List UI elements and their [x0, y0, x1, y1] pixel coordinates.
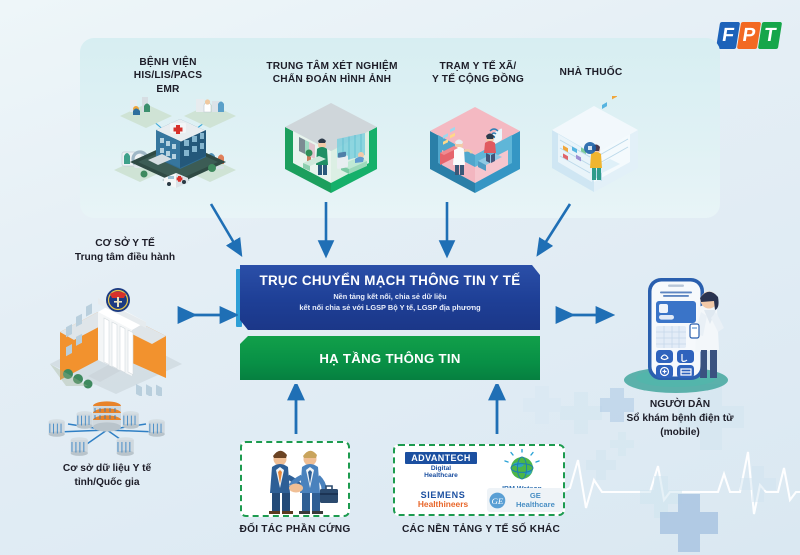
database-label: Cơ sở dữ liệu Y tế tỉnh/Quốc gia [27, 462, 187, 490]
logo-advantech-wordmark: ADVANTECH [405, 452, 477, 464]
ibm-watson-globe-icon [502, 449, 542, 483]
database-label-line2: tỉnh/Quốc gia [27, 476, 187, 490]
health-database-illustration [44, 398, 170, 462]
facility-hub-arrow [176, 303, 238, 327]
logo-advantech-sub2: Healthcare [405, 472, 477, 479]
hub-subtitle: Nền tảng kết nối, chia sẻ dữ liệu kết nố… [240, 292, 540, 313]
logo-healthineers-wordmark: Healthineers [403, 499, 483, 509]
other-platforms-box: ADVANTECH Digital Healthcare [393, 444, 565, 516]
source-label-pharmacy: NHÀ THUỐC [536, 66, 646, 79]
infrastructure-label: HẠ TẦNG THÔNG TIN [319, 351, 460, 366]
health-facility-building-illustration [42, 278, 192, 396]
database-label-line1: Cơ sở dữ liệu Y tế [27, 462, 187, 476]
platforms-to-hub-arrow [485, 384, 509, 438]
ecg-line-decoration [540, 430, 800, 540]
citizen-label: NGƯỜI DÂN Sổ khám bệnh điện tử (mobile) [596, 398, 764, 439]
citizen-mobile-app-illustration [612, 268, 740, 394]
hub-title: TRỤC CHUYỂN MẠCH THÔNG TIN Y TẾ [240, 273, 540, 288]
hub-subtitle-line1: Nền tảng kết nối, chia sẻ dữ liệu [333, 292, 446, 301]
fpt-logo-letter-t: T [758, 22, 782, 49]
facility-label-line1: CƠ SỞ Y TẾ [40, 237, 210, 251]
logo-ge-healthcare-wordmark: GE Healthcare [510, 491, 561, 509]
svg-text:GE: GE [491, 495, 503, 505]
pharmacy-illustration [546, 96, 642, 196]
information-infrastructure-bar: HẠ TẦNG THÔNG TIN [240, 336, 540, 380]
hub-subtitle-line2: kết nối chia sẻ với LGSP Bộ Y tế, LGSP đ… [299, 303, 480, 312]
facility-label-line2: Trung tâm điều hành [40, 251, 210, 265]
hub-citizen-arrow [554, 303, 616, 327]
diagram-canvas: F P T BỆNH VIỆN HIS/LIS/PACS EMR TRUNG T… [0, 0, 800, 555]
fpt-logo: F P T [718, 22, 784, 52]
health-information-switching-hub: TRỤC CHUYỂN MẠCH THÔNG TIN Y TẾ Nền tảng… [240, 265, 540, 330]
commune-clinic-room-illustration [424, 95, 526, 197]
other-platforms-caption: CÁC NỀN TẢNG Y TẾ SỐ KHÁC [395, 524, 567, 535]
hardware-partners-box [240, 441, 350, 517]
handshake-illustration [242, 443, 348, 515]
source-to-hub-arrows [170, 196, 620, 270]
source-label-commune-clinic: TRẠM Y TẾ XÃ/ Y TẾ CỘNG ĐỒNG [414, 60, 542, 87]
logo-advantech-sub1: Digital [405, 465, 477, 472]
hospital-complex-illustration [100, 88, 240, 200]
ge-monogram-icon: GE [489, 492, 506, 509]
facility-label: CƠ SỞ Y TẾ Trung tâm điều hành [40, 237, 210, 265]
logo-advantech: ADVANTECH Digital Healthcare [405, 452, 477, 480]
logo-ge-healthcare: GE GE Healthcare [487, 488, 563, 512]
source-label-lab-imaging: TRUNG TÂM XÉT NGHIỆM CHẨN ĐOÁN HÌNH ẢNH [262, 60, 402, 87]
logo-siemens-healthineers: SIEMENS Healthineers [403, 490, 483, 509]
citizen-label-line2: Sổ khám bệnh điện tử [596, 412, 764, 426]
hardware-to-hub-arrow [284, 384, 308, 438]
citizen-label-line1: NGƯỜI DÂN [596, 398, 764, 412]
hardware-partners-caption: ĐỐI TÁC PHẦN CỨNG [222, 524, 368, 535]
lab-imaging-room-illustration [281, 93, 381, 197]
logo-ibm-watson: IBM Watson [487, 449, 557, 493]
citizen-label-line3: (mobile) [596, 426, 764, 440]
